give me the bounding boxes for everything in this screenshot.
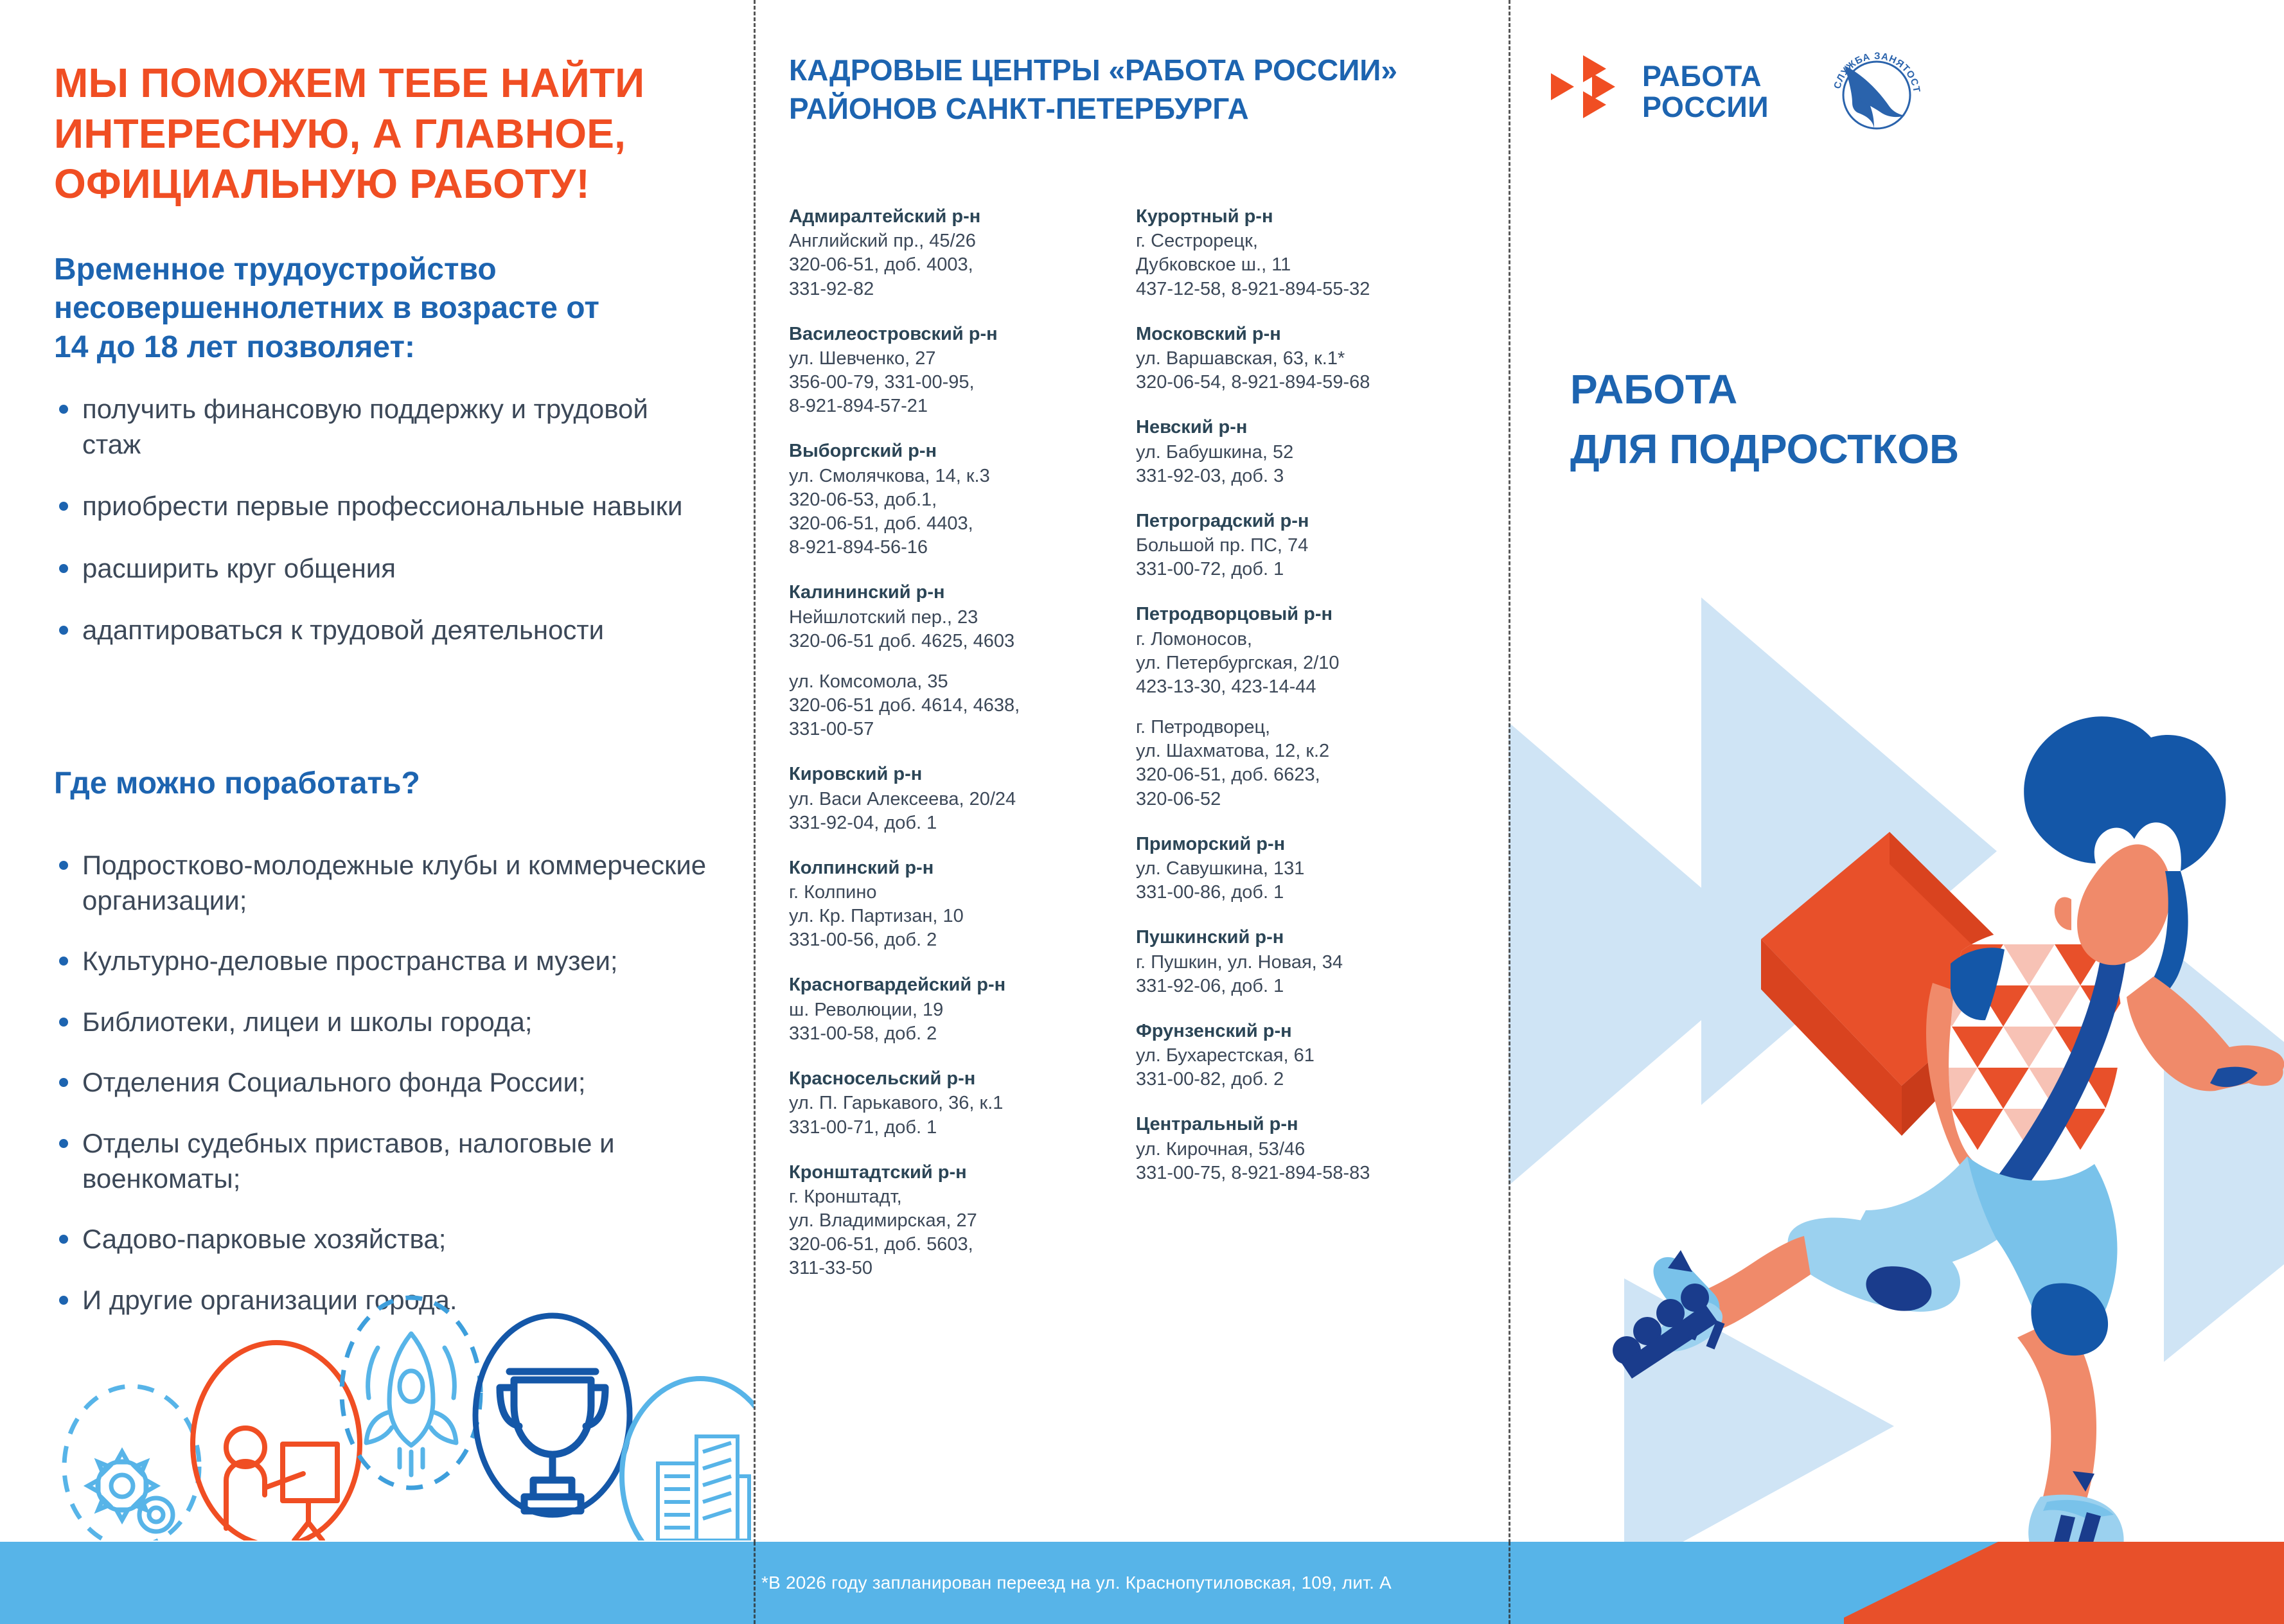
district-name: Пушкинский р-н [1136, 926, 1483, 949]
district-entry: Василеостровский р-н ул. Шевченко, 27 35… [789, 323, 1136, 419]
district-name: Адмиралтейский р-н [789, 206, 1136, 228]
district-address: ул. Бабушкина, 52 331-92-03, доб. 3 [1136, 441, 1483, 488]
district-address: ул. П. Гарькавого, 36, к.1 331-00-71, до… [789, 1091, 1136, 1139]
district-entry: Красносельский р-н ул. П. Гарькавого, 36… [789, 1068, 1136, 1140]
gears-icon [64, 1386, 199, 1540]
list-item: приобрести первые профессиональные навык… [54, 489, 703, 524]
district-name: Петродворцовый р-н [1136, 603, 1483, 626]
middle-panel: КАДРОВЫЕ ЦЕНТРЫ «РАБОТА РОССИИ» РАЙОНОВ … [754, 0, 1509, 1624]
district-name: Петроградский р-н [1136, 510, 1483, 533]
list-item: Культурно-деловые пространства и музеи; [54, 944, 716, 979]
district-entry: Петроградский р-н Большой пр. ПС, 74 331… [1136, 510, 1483, 582]
district-entry: Московский р-н ул. Варшавская, 63, к.1* … [1136, 323, 1483, 395]
list-item: Отделения Социального фонда России; [54, 1065, 716, 1100]
district-name: Приморский р-н [1136, 833, 1483, 856]
back-leg [1613, 1218, 1960, 1379]
left-subheading: Временное трудоустройство несовершенноле… [54, 251, 632, 367]
district-address: ул. Бухарестская, 61 331-00-82, доб. 2 [1136, 1044, 1483, 1091]
rocket-icon [342, 1298, 481, 1488]
district-address: ш. Революции, 19 331-00-58, доб. 2 [789, 998, 1136, 1046]
right-panel: РАБОТА РОССИИ СЛУЖБА ЗАНЯТОСТИ РАБОТА ДЛ [1509, 0, 2284, 1624]
district-entry: Приморский р-н ул. Савушкина, 131 331-00… [1136, 833, 1483, 905]
spacer [789, 653, 1136, 670]
left-headline: МЫ ПОМОЖЕМ ТЕБЕ НАЙТИ ИНТЕРЕСНУЮ, А ГЛАВ… [54, 58, 684, 209]
fold-line-left-footer [754, 1542, 756, 1624]
district-name: Выборгский р-н [789, 440, 1136, 463]
district-name: Невский р-н [1136, 416, 1483, 439]
places-list: Подростково-молодежные клубы и коммерчес… [54, 848, 716, 1343]
left-panel: МЫ ПОМОЖЕМ ТЕБЕ НАЙТИ ИНТЕРЕСНУЮ, А ГЛАВ… [0, 0, 754, 1624]
spacer [1136, 699, 1483, 716]
district-address: ул. Савушкина, 131 331-00-86, доб. 1 [1136, 857, 1483, 905]
district-entry: Красногвардейский р-н ш. Революции, 19 3… [789, 974, 1136, 1046]
list-item: Садово-парковые хозяйства; [54, 1222, 716, 1257]
district-entry: Колпинский р-н г. Колпино ул. Кр. Партиз… [789, 857, 1136, 953]
district-name: Колпинский р-н [789, 857, 1136, 879]
district-address: Английский пр., 45/26 320-06-51, доб. 40… [789, 229, 1136, 301]
footer-bar: *В 2026 году запланирован переезд на ул.… [0, 1542, 2284, 1624]
list-item: Отделы судебных приставов, налоговые и в… [54, 1126, 716, 1196]
district-address: ул. Смолячкова, 14, к.3 320-06-53, доб.1… [789, 464, 1136, 560]
district-entry: Калининский р-н Нейшлотский пер., 23 320… [789, 581, 1136, 741]
district-name: Калининский р-н [789, 581, 1136, 604]
footer-note: *В 2026 году запланирован переезд на ул.… [761, 1573, 1392, 1593]
district-address: г. Кронштадт, ул. Владимирская, 27 320-0… [789, 1185, 1136, 1280]
benefits-list: получить финансовую поддержку и трудовой… [54, 392, 703, 675]
presenter-icon [193, 1343, 360, 1540]
district-name: Фрунзенский р-н [1136, 1020, 1483, 1043]
district-address: ул. Васи Алексеева, 20/24 331-92-04, доб… [789, 788, 1136, 835]
decorative-icon-row [0, 1284, 754, 1540]
district-address-secondary: ул. Комсомола, 35 320-06-51 доб. 4614, 4… [789, 670, 1136, 741]
district-entry: Кировский р-н ул. Васи Алексеева, 20/24 … [789, 763, 1136, 835]
district-address: г. Ломоносов, ул. Петербургская, 2/10 42… [1136, 628, 1483, 699]
brochure-page: МЫ ПОМОЖЕМ ТЕБЕ НАЙТИ ИНТЕРЕСНУЮ, А ГЛАВ… [0, 0, 2284, 1624]
district-name: Кировский р-н [789, 763, 1136, 786]
districts-headline: КАДРОВЫЕ ЦЕНТРЫ «РАБОТА РОССИИ» РАЙОНОВ … [789, 51, 1444, 128]
teen-rollerblader-illustration [1509, 0, 2284, 1624]
district-entry: Пушкинский р-н г. Пушкин, ул. Новая, 34 … [1136, 926, 1483, 998]
district-address: г. Пушкин, ул. Новая, 34 331-92-06, доб.… [1136, 951, 1483, 998]
where-to-work-question: Где можно поработать? [54, 764, 632, 803]
district-name: Василеостровский р-н [789, 323, 1136, 346]
district-address: г. Сестрорецк, Дубковское ш., 11 437-12-… [1136, 229, 1483, 301]
list-item: получить финансовую поддержку и трудовой… [54, 392, 703, 462]
district-entry: Кронштадтский р-н г. Кронштадт, ул. Влад… [789, 1161, 1136, 1281]
district-name: Красногвардейский р-н [789, 974, 1136, 996]
district-entry: Фрунзенский р-н ул. Бухарестская, 61 331… [1136, 1020, 1483, 1092]
district-entry: Адмиралтейский р-н Английский пр., 45/26… [789, 206, 1136, 301]
district-name: Курортный р-н [1136, 206, 1483, 228]
district-entry: Центральный р-н ул. Кирочная, 53/46 331-… [1136, 1113, 1483, 1185]
buildings-icon [622, 1379, 754, 1540]
district-address: ул. Шевченко, 27 356-00-79, 331-00-95, 8… [789, 347, 1136, 418]
list-item: Библиотеки, лицеи и школы города; [54, 1005, 716, 1040]
district-entry: Выборгский р-н ул. Смолячкова, 14, к.3 3… [789, 440, 1136, 560]
district-entry: Петродворцовый р-н г. Ломоносов, ул. Пет… [1136, 603, 1483, 811]
district-name: Кронштадтский р-н [789, 1161, 1136, 1184]
list-item: расширить круг общения [54, 551, 703, 587]
district-name: Центральный р-н [1136, 1113, 1483, 1136]
district-entry: Курортный р-н г. Сестрорецк, Дубковское … [1136, 206, 1483, 301]
list-item: Подростково-молодежные клубы и коммерчес… [54, 848, 716, 918]
districts-columns: Адмиралтейский р-н Английский пр., 45/26… [789, 206, 1483, 1302]
trophy-icon [475, 1316, 630, 1515]
district-address-secondary: г. Петродворец, ул. Шахматова, 12, к.2 3… [1136, 716, 1483, 811]
fold-line-right-footer [1509, 1542, 1510, 1624]
district-address: Нейшлотский пер., 23 320-06-51 доб. 4625… [789, 606, 1136, 653]
fold-line-right [1509, 0, 1510, 1624]
district-entry: Невский р-н ул. Бабушкина, 52 331-92-03,… [1136, 416, 1483, 488]
fold-line-left [754, 0, 756, 1624]
district-address: Большой пр. ПС, 74 331-00-72, доб. 1 [1136, 534, 1483, 581]
district-name: Красносельский р-н [789, 1068, 1136, 1090]
district-address: ул. Варшавская, 63, к.1* 320-06-54, 8-92… [1136, 347, 1483, 394]
districts-column-right: Курортный р-н г. Сестрорецк, Дубковское … [1136, 206, 1483, 1302]
district-address: г. Колпино ул. Кр. Партизан, 10 331-00-5… [789, 881, 1136, 952]
district-name: Московский р-н [1136, 323, 1483, 346]
list-item: адаптироваться к трудовой деятельности [54, 613, 703, 648]
district-address: ул. Кирочная, 53/46 331-00-75, 8-921-894… [1136, 1138, 1483, 1185]
districts-column-left: Адмиралтейский р-н Английский пр., 45/26… [789, 206, 1136, 1302]
